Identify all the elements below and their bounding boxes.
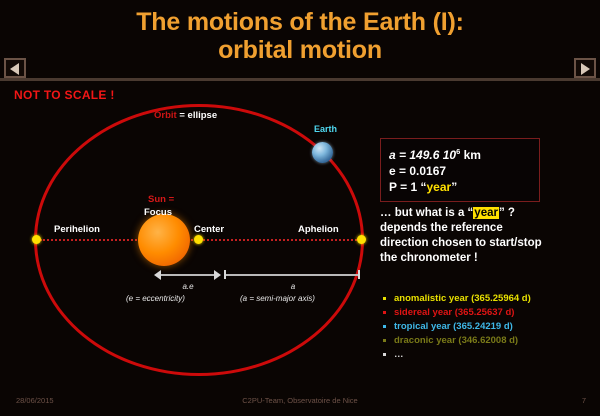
slide-footer: 28/06/2015 C2PU-Team, Observatoire de Ni…	[0, 396, 600, 408]
perihelion-point-marker	[32, 235, 41, 244]
next-slide-button[interactable]	[574, 58, 596, 78]
question-line-2: depends the reference	[380, 221, 596, 236]
orbit-ellipse-label: Orbit = ellipse	[154, 110, 217, 121]
ae-arrow-right-icon	[214, 270, 221, 280]
bullet-icon	[383, 353, 386, 356]
question-line-3: direction chosen to start/stop	[380, 236, 596, 251]
semimajor-axis-value: a = 149.6 106 km	[389, 144, 531, 163]
year-type-item: …	[380, 348, 596, 362]
period-prefix: P = 1 “	[389, 180, 426, 194]
page-title: The motions of the Earth (I): orbital mo…	[0, 8, 600, 64]
year-type-label: sidereal year (365.25637 d)	[394, 307, 514, 318]
question-highlight: year	[473, 207, 499, 219]
question-line-1: … but what is a “year” ?	[380, 206, 596, 221]
perihelion-label: Perihelion	[54, 224, 100, 235]
year-question-block: … but what is a “year” ? depends the ref…	[380, 206, 596, 266]
bullet-icon	[383, 339, 386, 342]
period-suffix: ”	[451, 180, 457, 194]
semimajor-axis-unit: km	[460, 148, 481, 162]
bullet-icon	[383, 311, 386, 314]
a-measure-bar	[226, 274, 360, 276]
ae-measure-bar	[156, 274, 219, 276]
year-type-label: tropical year (365.24219 d)	[394, 321, 513, 332]
eccentricity-note: (e = eccentricity)	[126, 294, 185, 303]
year-type-label: draconic year (346.62008 d)	[394, 335, 518, 346]
question-pre: … but what is a “	[380, 207, 473, 219]
year-type-label: …	[394, 349, 404, 360]
aphelion-label: Aphelion	[298, 224, 339, 235]
a-measure-label: a	[226, 282, 360, 291]
title-line-1: The motions of the Earth (I):	[0, 8, 600, 36]
year-type-item: draconic year (346.62008 d)	[380, 334, 596, 348]
ellipse-label-word: = ellipse	[179, 110, 217, 121]
sun-icon	[138, 214, 190, 266]
orbit-label-word: Orbit	[154, 110, 177, 121]
eccentricity-value: e = 0.0167	[389, 163, 531, 179]
year-type-item: anomalistic year (365.25964 d)	[380, 292, 596, 306]
ae-measure-label: a.e	[156, 282, 220, 291]
question-post: ” ?	[499, 207, 515, 219]
year-type-label: anomalistic year (365.25964 d)	[394, 293, 531, 304]
sun-label: Sun =	[148, 194, 174, 205]
orbital-parameters-box: a = 149.6 106 km e = 0.0167 P = 1 “year”	[380, 138, 540, 202]
focus-label: Focus	[144, 207, 172, 218]
semimajor-axis-note: (a = semi-major axis)	[240, 294, 315, 303]
earth-label: Earth	[314, 124, 337, 134]
year-types-list: anomalistic year (365.25964 d)sidereal y…	[380, 292, 596, 362]
a-cap-right	[358, 270, 360, 279]
period-word: year	[426, 180, 451, 194]
previous-slide-button[interactable]	[4, 58, 26, 78]
bullet-icon	[383, 325, 386, 328]
footer-organisation: C2PU-Team, Observatoire de Nice	[0, 396, 600, 405]
year-type-item: sidereal year (365.25637 d)	[380, 306, 596, 320]
a-cap-left	[224, 270, 226, 279]
header-divider	[0, 78, 600, 81]
slide-canvas: The motions of the Earth (I): orbital mo…	[0, 0, 600, 416]
footer-page-number: 7	[582, 396, 586, 405]
year-type-item: tropical year (365.24219 d)	[380, 320, 596, 334]
triangle-right-icon	[581, 63, 590, 75]
bullet-icon	[383, 297, 386, 300]
earth-icon	[312, 142, 333, 163]
center-label: Center	[194, 224, 224, 235]
semimajor-axis-text: a = 149.6 10	[389, 148, 456, 162]
title-line-2: orbital motion	[0, 36, 600, 64]
ae-arrow-left-icon	[154, 270, 161, 280]
aphelion-point-marker	[357, 235, 366, 244]
orbit-diagram: Orbit = ellipse Earth Sun = Focus Perihe…	[8, 98, 376, 383]
period-value: P = 1 “year”	[389, 179, 531, 195]
center-point-marker	[194, 235, 203, 244]
triangle-left-icon	[10, 63, 19, 75]
question-line-4: the chronometer !	[380, 251, 596, 266]
